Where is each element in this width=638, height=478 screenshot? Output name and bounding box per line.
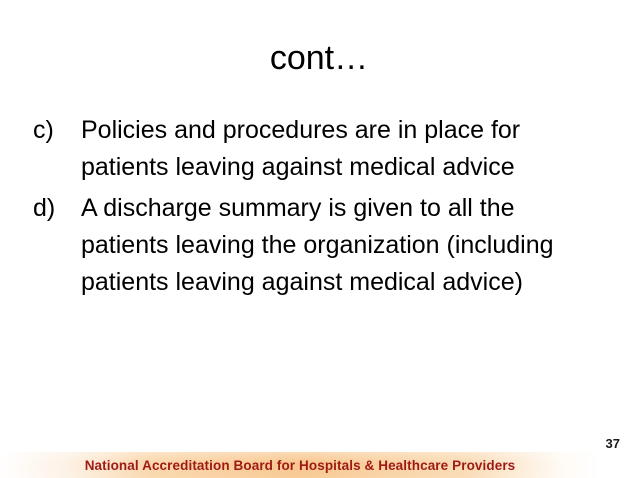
list-item-text: A discharge summary is given to all the …	[81, 190, 581, 301]
list-item-marker: d)	[33, 190, 81, 227]
page-title: cont…	[0, 38, 638, 78]
list-item-marker: c)	[33, 112, 81, 149]
page-number: 37	[606, 436, 620, 452]
list-item: c) Policies and procedures are in place …	[33, 112, 593, 186]
slide: cont… c) Policies and procedures are in …	[0, 0, 638, 478]
list-item-text: Policies and procedures are in place for…	[81, 112, 581, 186]
body-content-list: c) Policies and procedures are in place …	[33, 112, 593, 305]
list-item: d) A discharge summary is given to all t…	[33, 190, 593, 301]
footer-organization-name: National Accreditation Board for Hospita…	[0, 456, 600, 476]
